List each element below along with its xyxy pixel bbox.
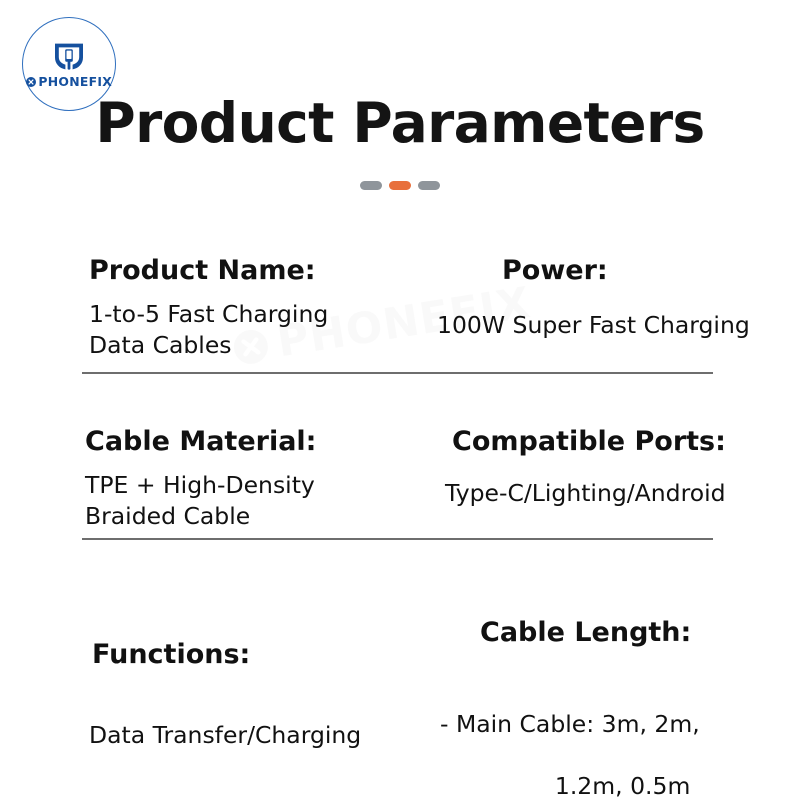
spec-heading-cable-length: Cable Length: bbox=[480, 618, 691, 648]
brand-name: PHONEFIX bbox=[38, 76, 112, 88]
dash-center bbox=[389, 181, 411, 190]
circle-x-icon bbox=[26, 77, 36, 87]
cable-length-line-2: 1.2m, 0.5m bbox=[440, 771, 706, 800]
divider-row-1 bbox=[82, 372, 713, 374]
spec-heading-product-name: Product Name: bbox=[89, 256, 316, 286]
divider-row-2 bbox=[82, 538, 713, 540]
page-title: Product Parameters bbox=[0, 95, 800, 153]
spec-value-cable-material: TPE + High-Density Braided Cable bbox=[85, 470, 315, 532]
brand-wordmark: PHONEFIX bbox=[26, 76, 112, 88]
spec-heading-power: Power: bbox=[502, 256, 608, 286]
cable-length-line-1: - Main Cable: 3m, 2m, bbox=[440, 709, 706, 740]
dash-right bbox=[418, 181, 440, 190]
spec-heading-compatible-ports: Compatible Ports: bbox=[452, 427, 726, 457]
spec-value-functions: Data Transfer/Charging bbox=[89, 720, 361, 751]
phone-shield-icon bbox=[52, 42, 86, 72]
title-dash-group bbox=[0, 181, 800, 190]
dash-left bbox=[360, 181, 382, 190]
spec-value-cable-length: - Main Cable: 3m, 2m, 1.2m, 0.5m - Branc… bbox=[440, 678, 706, 800]
product-parameters-page: PHONEFIX Product Parameters PHONEFIX Pro… bbox=[0, 0, 800, 800]
spec-value-compatible-ports: Type-C/Lighting/Android bbox=[445, 478, 726, 509]
spec-value-power: 100W Super Fast Charging bbox=[437, 310, 750, 341]
spec-heading-cable-material: Cable Material: bbox=[85, 427, 316, 457]
spec-heading-functions: Functions: bbox=[92, 640, 250, 670]
spec-value-product-name: 1-to-5 Fast Charging Data Cables bbox=[89, 299, 328, 361]
